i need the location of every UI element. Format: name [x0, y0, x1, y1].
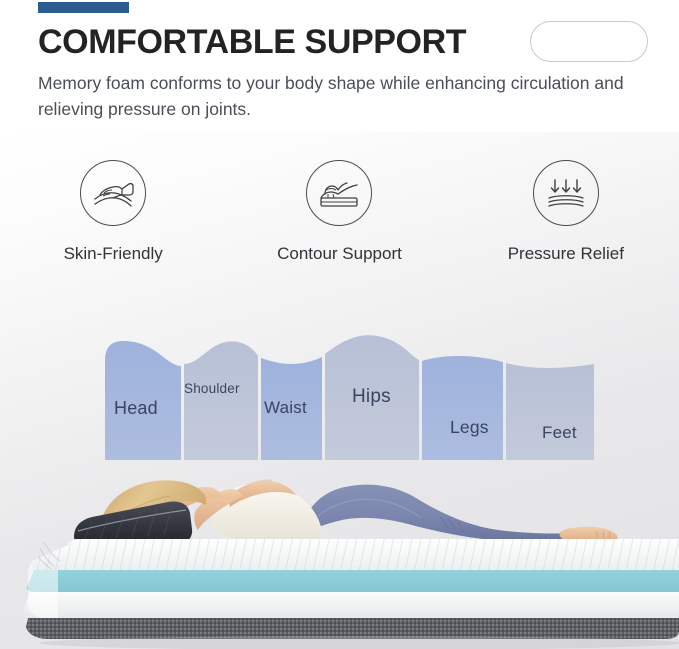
page-title: COMFORTABLE SUPPORT [38, 23, 466, 61]
mattress-base-layer [26, 618, 679, 639]
feature-label-contour-support: Contour Support [277, 244, 402, 264]
contour-support-icon-circle [306, 160, 372, 226]
mattress-cover-quilting [31, 539, 679, 570]
skin-friendly-icon-circle [80, 160, 146, 226]
feature-row: Skin-Friendly Contour Support [0, 160, 679, 280]
mattress-support-foam [23, 592, 679, 618]
feature-contour-support[interactable]: Contour Support [226, 160, 452, 280]
feature-label-pressure-relief: Pressure Relief [508, 244, 624, 264]
person-legs [300, 485, 578, 543]
feature-pressure-relief[interactable]: Pressure Relief [453, 160, 679, 280]
title-badge-pill[interactable] [530, 21, 648, 62]
down-arrows-on-layers-icon [545, 175, 587, 211]
person-on-mattress-icon [317, 175, 361, 211]
mattress-gel-layer [27, 570, 679, 592]
subtitle-text: Memory foam conforms to your body shape … [38, 70, 652, 122]
hand-pressing-foam-icon [91, 176, 135, 210]
feature-skin-friendly[interactable]: Skin-Friendly [0, 160, 226, 280]
pressure-relief-icon-circle [533, 160, 599, 226]
feature-label-skin-friendly: Skin-Friendly [64, 244, 163, 264]
header: COMFORTABLE SUPPORT Memory foam conforms… [0, 0, 679, 132]
accent-bar [38, 2, 129, 13]
title-row: COMFORTABLE SUPPORT [38, 20, 658, 64]
